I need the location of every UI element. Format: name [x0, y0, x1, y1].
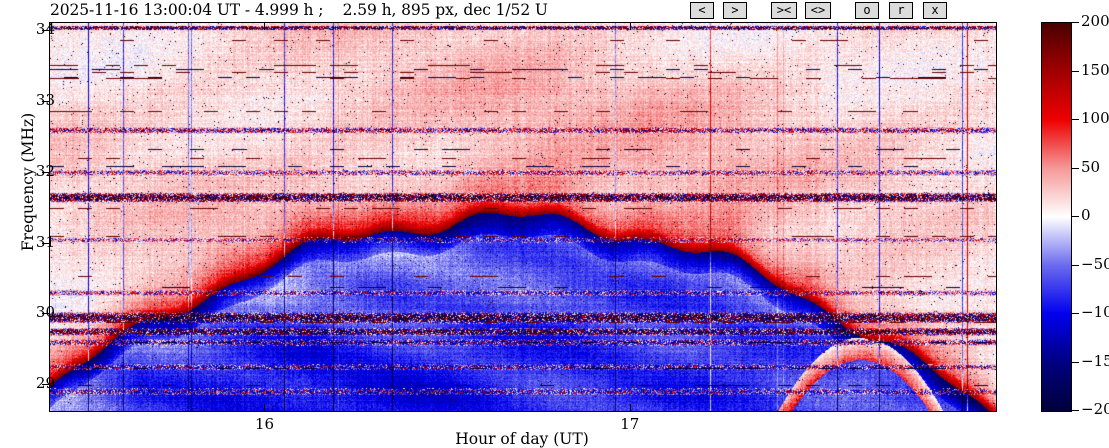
colorbar-tick-label: 0: [1081, 206, 1091, 224]
x-tick-mark-top: [264, 23, 265, 30]
x-tick-label: 16: [244, 415, 284, 433]
x-tick-mark-top: [630, 23, 631, 30]
colorbar-tick-label: −100: [1081, 303, 1109, 321]
r-mode-button[interactable]: r: [889, 2, 913, 19]
colorbar-tick-mark: [1072, 71, 1079, 72]
colorbar-tick-mark: [1072, 119, 1079, 120]
colorbar-gradient: [1042, 23, 1071, 411]
colorbar-tick-mark: [1072, 265, 1079, 266]
colorbar-tick-label: 150: [1081, 61, 1109, 79]
x-mode-button[interactable]: x: [923, 2, 947, 19]
spectrogram-plot[interactable]: [49, 22, 997, 412]
y-tick-label: 32: [15, 162, 55, 180]
x-tick-label: 17: [610, 415, 650, 433]
y-tick-label: 31: [15, 233, 55, 251]
colorbar-tick-label: 50: [1081, 158, 1100, 176]
colorbar-tick-label: −150: [1081, 352, 1109, 370]
header-bar: 2025-11-16 13:00:04 UT - 4.999 h ; 2.59 …: [0, 0, 1109, 22]
prev-button[interactable]: <: [690, 2, 714, 19]
colorbar[interactable]: [1041, 22, 1072, 412]
colorbar-tick-mark: [1072, 410, 1079, 411]
x-tick-mark: [630, 404, 631, 411]
colorbar-tick-label: −200: [1081, 400, 1109, 418]
x-tick-mark: [264, 404, 265, 411]
colorbar-tick-label: −50: [1081, 255, 1109, 273]
colorbar-tick-mark: [1072, 168, 1079, 169]
colorbar-tick-label: 100: [1081, 109, 1109, 127]
zoom-out-button[interactable]: <>: [805, 2, 831, 19]
colorbar-tick-mark: [1072, 216, 1079, 217]
y-tick-label: 34: [15, 20, 55, 38]
colorbar-tick-mark: [1072, 313, 1079, 314]
y-tick-label: 30: [15, 303, 55, 321]
spectrogram-canvas[interactable]: [50, 23, 996, 411]
colorbar-tick-label: 200: [1081, 12, 1109, 30]
zoom-in-button[interactable]: ><: [771, 2, 797, 19]
colorbar-tick-mark: [1072, 22, 1079, 23]
y-tick-label: 33: [15, 91, 55, 109]
x-axis-label: Hour of day (UT): [322, 430, 722, 448]
next-button[interactable]: >: [723, 2, 747, 19]
o-mode-button[interactable]: o: [855, 2, 879, 19]
y-tick-label: 29: [15, 374, 55, 392]
page-title: 2025-11-16 13:00:04 UT - 4.999 h ; 2.59 …: [50, 1, 548, 19]
colorbar-tick-mark: [1072, 362, 1079, 363]
